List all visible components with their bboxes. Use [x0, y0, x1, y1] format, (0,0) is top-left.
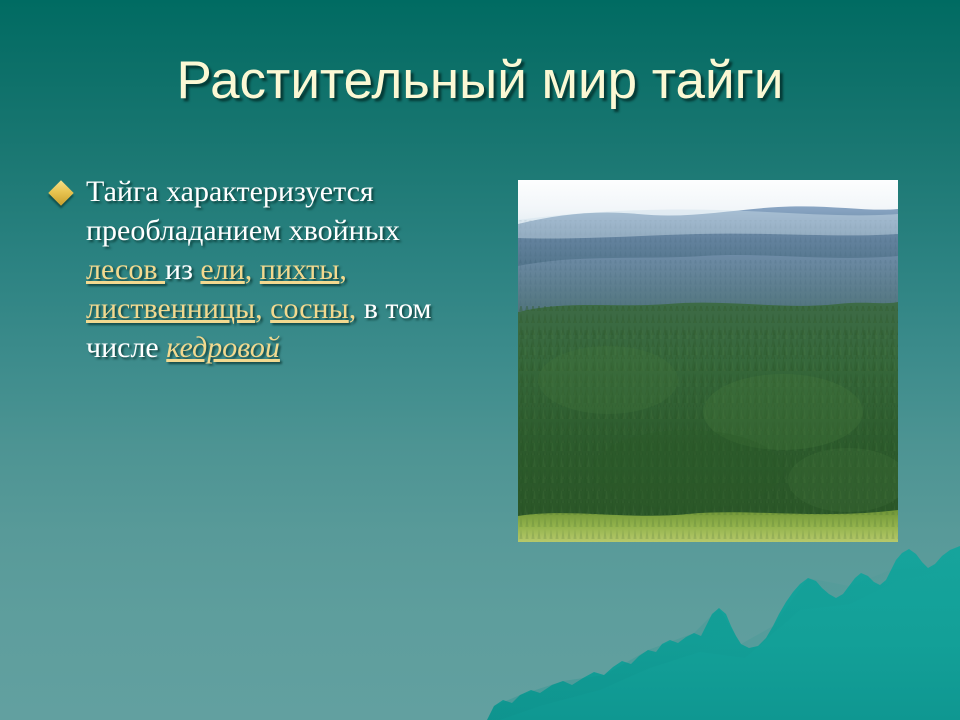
separator-comma-4: , — [349, 292, 364, 325]
bullet-item-text: Тайга характеризуется преобладанием хвой… — [86, 172, 472, 367]
list-item: Тайга характеризуется преобладанием хвой… — [52, 172, 472, 367]
body-content: Тайга характеризуется преобладанием хвой… — [52, 172, 472, 367]
text-segment-0: Тайга характеризуется преобладанием хвой… — [86, 175, 400, 247]
presentation-slide: Растительный мир тайги Тайга характеризу… — [0, 0, 960, 720]
mountain-ridge-decoration — [0, 540, 960, 720]
text-segment-2: из — [165, 253, 200, 286]
link-lesov[interactable]: лесов — [86, 253, 165, 286]
link-listvennicy[interactable]: лиственницы — [86, 292, 255, 325]
link-pihty[interactable]: пихты — [260, 253, 340, 286]
separator-comma-2: , — [339, 253, 347, 286]
link-kedrovoy[interactable]: кедровой — [166, 331, 280, 364]
diamond-bullet-icon — [48, 180, 73, 205]
separator-comma-1: , — [245, 253, 260, 286]
separator-comma-3: , — [255, 292, 270, 325]
link-sosny[interactable]: сосны — [270, 292, 349, 325]
link-eli[interactable]: ели — [200, 253, 244, 286]
page-title: Растительный мир тайги — [0, 52, 960, 110]
taiga-forest-photo — [518, 180, 898, 542]
